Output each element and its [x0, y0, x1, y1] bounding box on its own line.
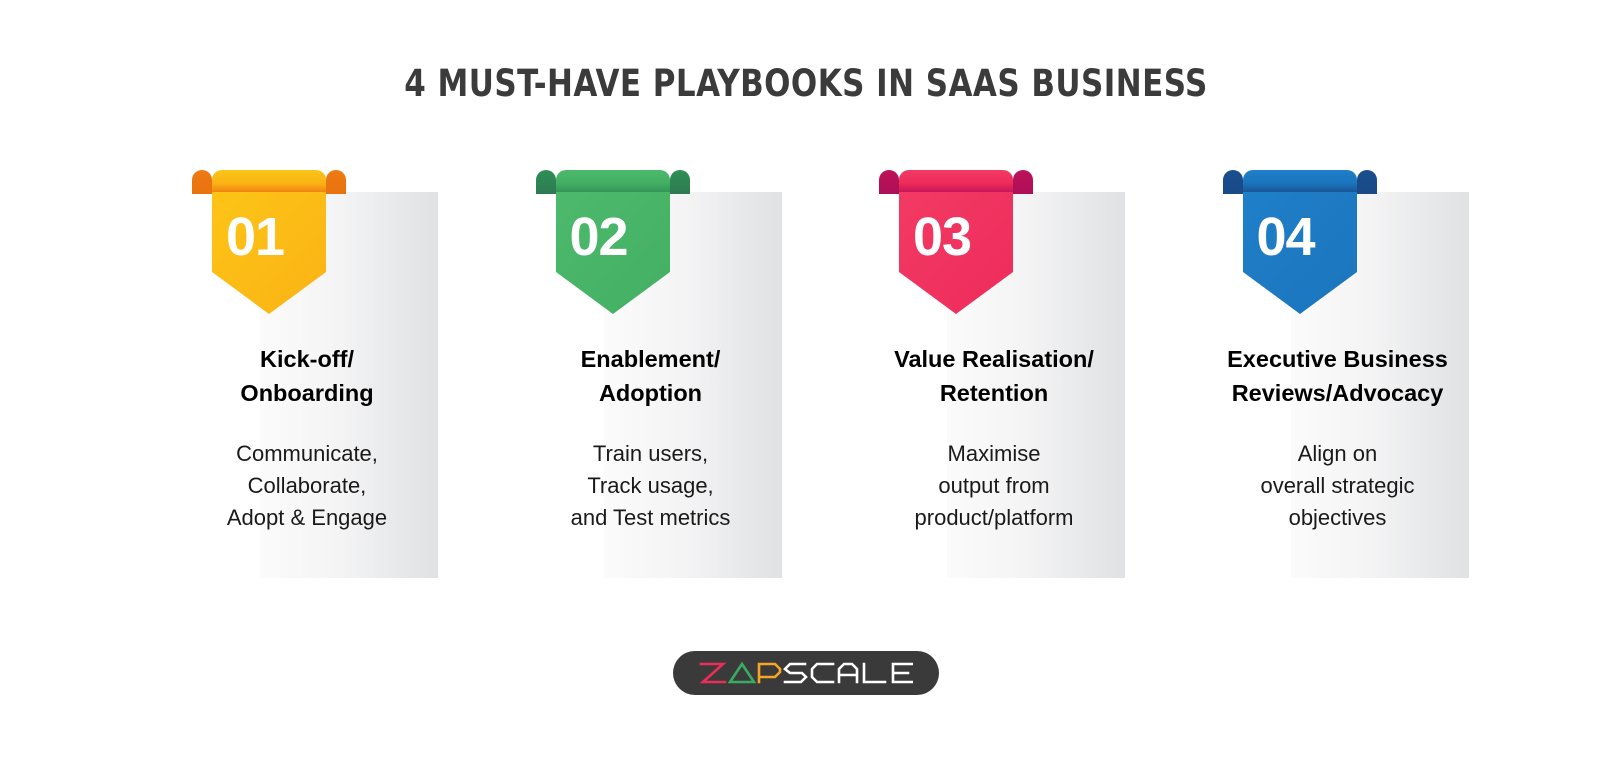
ribbon-badge-icon: [190, 168, 348, 316]
logo-scale-glyph-4: [893, 664, 913, 682]
logo-scale-glyph-0: [785, 664, 806, 682]
zapscale-logo: ZAPSCALE: [673, 651, 939, 695]
logo-scale-glyph-1: [812, 664, 833, 682]
card-heading-line-1: Value Realisation/: [894, 346, 1094, 372]
card-heading-line-2: Onboarding: [240, 380, 373, 406]
ribbon-badge-icon: [534, 168, 692, 316]
card-body-line-3: product/platform: [915, 505, 1074, 530]
card-body-line-2: overall strategic: [1260, 473, 1414, 498]
card-body-line-1: Maximise: [948, 441, 1041, 466]
card-heading: Value Realisation/ Retention: [837, 342, 1151, 410]
card-heading-line-2: Adoption: [599, 380, 702, 406]
logo-letters-scale: [785, 664, 913, 682]
card-body-line-1: Train users,: [593, 441, 708, 466]
card-body-line-2: Track usage,: [587, 473, 713, 498]
card-body-line-1: Communicate,: [236, 441, 378, 466]
card-heading-line-2: Retention: [940, 380, 1048, 406]
playbook-card-grid: 01 Kick-off/ Onboarding Communicate, Col…: [176, 168, 1466, 588]
card-body-line-3: Adopt & Engage: [227, 505, 387, 530]
ribbon-badge-icon: [1221, 168, 1379, 316]
page-title: 4 MUST-HAVE PLAYBOOKS IN SAAS BUSINESS: [56, 62, 1555, 105]
playbook-card: 03 Value Realisation/ Retention Maximise…: [863, 168, 1123, 588]
logo-scale-glyph-3: [864, 664, 885, 682]
playbook-card: 04 Executive Business Reviews/Advocacy A…: [1207, 168, 1467, 588]
logo-letter-a: [730, 664, 754, 682]
card-body-line-1: Align on: [1298, 441, 1378, 466]
ribbon-badge-icon: [877, 168, 1035, 316]
zapscale-logo-mark: [699, 660, 913, 686]
playbook-card: 02 Enablement/ Adoption Train users, Tra…: [520, 168, 780, 588]
card-heading: Executive Business Reviews/Advocacy: [1181, 342, 1495, 410]
card-heading-line-1: Executive Business: [1227, 346, 1448, 372]
playbook-card: 01 Kick-off/ Onboarding Communicate, Col…: [176, 168, 436, 588]
infographic-canvas: 4 MUST-HAVE PLAYBOOKS IN SAAS BUSINESS: [0, 0, 1612, 766]
card-heading: Enablement/ Adoption: [494, 342, 808, 410]
card-heading-line-2: Reviews/Advocacy: [1232, 380, 1444, 406]
logo-scale-glyph-2: [839, 664, 857, 682]
card-heading-line-1: Enablement/: [581, 346, 721, 372]
card-body-line-3: and Test metrics: [571, 505, 731, 530]
card-body-line-2: output from: [938, 473, 1049, 498]
card-heading-line-1: Kick-off/: [260, 346, 354, 372]
card-heading: Kick-off/ Onboarding: [150, 342, 464, 410]
card-body-text: Align on overall strategic objectives: [1181, 438, 1495, 534]
card-body-text: Maximise output from product/platform: [837, 438, 1151, 534]
logo-letter-p: [759, 664, 780, 682]
card-body-text: Communicate, Collaborate, Adopt & Engage: [150, 438, 464, 534]
card-body-line-2: Collaborate,: [248, 473, 367, 498]
card-body-line-3: objectives: [1289, 505, 1387, 530]
logo-letter-z: [701, 664, 725, 682]
card-body-text: Train users, Track usage, and Test metri…: [494, 438, 808, 534]
